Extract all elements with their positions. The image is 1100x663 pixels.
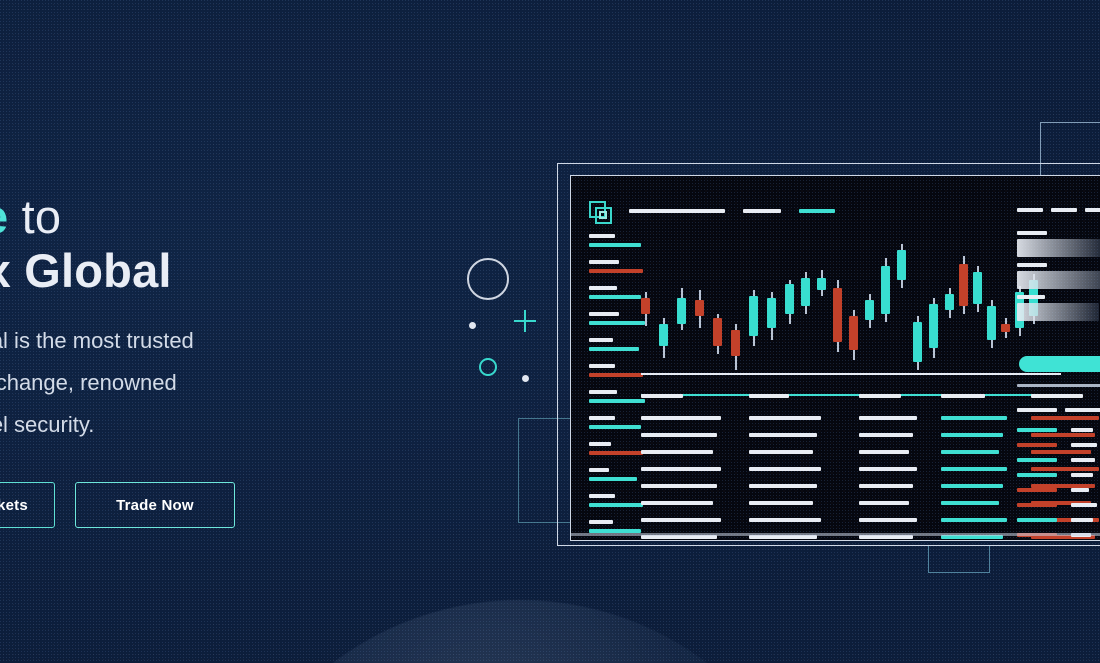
right-panel-cta-button[interactable] [1019, 356, 1100, 372]
right-panel-field-0[interactable] [1017, 239, 1100, 257]
right-panel-list-label-0 [1071, 428, 1093, 432]
hero-stage: Trade to Forex Global Forex Global is th… [0, 0, 1100, 663]
headline-rest: to [8, 190, 61, 243]
sidebar-row-value-6[interactable] [589, 399, 645, 403]
sidebar-row-value-9[interactable] [589, 477, 637, 481]
right-panel-field-label-2 [1017, 295, 1045, 299]
table-row [941, 467, 1007, 471]
right-panel-list-label-4 [1071, 488, 1089, 492]
right-panel-separator [1017, 384, 1100, 387]
table-row [749, 467, 821, 471]
table-row [749, 484, 817, 488]
nav-placeholder-0[interactable] [629, 209, 725, 213]
sidebar-row-value-4[interactable] [589, 347, 639, 351]
sidebar-row-value-0[interactable] [589, 243, 641, 247]
candlestick [817, 231, 826, 376]
right-panel-field-1[interactable] [1017, 271, 1100, 289]
candle-body [929, 304, 938, 348]
table-row [749, 433, 817, 437]
candle-body [801, 278, 810, 306]
right-panel-list-value-1 [1017, 443, 1057, 447]
sidebar-row-label-5 [589, 364, 615, 368]
candlestick [959, 231, 968, 376]
table-row [641, 501, 713, 505]
table-row [859, 433, 913, 437]
trade-now-button[interactable]: Trade Now [75, 482, 235, 528]
sidebar-row-value-8[interactable] [589, 451, 643, 455]
hero-body-text: Forex Global is the most trusted currenc… [0, 320, 442, 446]
right-panel-list-value-2 [1017, 458, 1057, 462]
sidebar-row-value-3[interactable] [589, 321, 645, 325]
candlestick [767, 231, 776, 376]
candle-body [865, 300, 874, 320]
table-row [749, 501, 813, 505]
candlestick [641, 231, 650, 376]
hero-body-line-3: for next-level security. [0, 412, 94, 437]
horizontal-scrollbar[interactable] [571, 533, 1100, 536]
candle-body [767, 298, 776, 328]
nav-placeholder-1[interactable] [743, 209, 781, 213]
right-panel-list-header-0 [1017, 408, 1057, 412]
right-panel-field-2[interactable] [1017, 303, 1099, 321]
candle-body [833, 288, 842, 342]
right-panel-field-label-0 [1017, 231, 1047, 235]
table-row [749, 450, 813, 454]
candlestick [677, 231, 686, 376]
candlestick [801, 231, 810, 376]
table-column-header-2 [859, 394, 901, 398]
table-row [859, 467, 917, 471]
candlestick [865, 231, 874, 376]
candlestick [695, 231, 704, 376]
hero-body-line-1: Forex Global is the most trusted [0, 328, 194, 353]
sidebar-row-label-1 [589, 260, 619, 264]
sidebar-row-label-3 [589, 312, 619, 316]
sidebar-row-label-7 [589, 416, 615, 420]
decor-circle-small-icon [479, 358, 497, 376]
decor-dot-icon [469, 322, 476, 329]
candle-body [659, 324, 668, 346]
candlestick-chart [641, 231, 996, 376]
hero-body-line-2: currency exchange, renowned [0, 370, 177, 395]
right-panel-tab-0[interactable] [1017, 208, 1043, 212]
right-panel-list-value-5 [1017, 503, 1057, 507]
sidebar-row-label-10 [589, 494, 615, 498]
dashboard-logo-icon [589, 201, 615, 227]
table-row [641, 518, 721, 522]
candlestick [881, 231, 890, 376]
right-panel-list-label-5 [1071, 503, 1097, 507]
nav-placeholder-2[interactable] [799, 209, 835, 213]
candle-body [913, 322, 922, 362]
candlestick [929, 231, 938, 376]
dashboard-right-panel[interactable] [1009, 176, 1100, 540]
decor-plus-icon [514, 310, 536, 332]
candlestick [973, 231, 982, 376]
table-column-header-1 [749, 394, 789, 398]
right-panel-list-label-1 [1071, 443, 1097, 447]
table-row [859, 450, 909, 454]
sidebar-row-label-2 [589, 286, 617, 290]
candle-body [945, 294, 954, 310]
sidebar-row-label-0 [589, 234, 615, 238]
candle-body [987, 306, 996, 340]
candle-body [677, 298, 686, 324]
candlestick [785, 231, 794, 376]
right-panel-field-label-1 [1017, 263, 1047, 267]
table-row [641, 416, 721, 420]
candle-body [641, 298, 650, 314]
right-panel-list-header-1 [1065, 408, 1100, 412]
candle-body [817, 278, 826, 290]
candlestick [749, 231, 758, 376]
sidebar-row-label-9 [589, 468, 609, 472]
table-row [641, 484, 717, 488]
sidebar-row-value-5[interactable] [589, 373, 643, 377]
candle-body [881, 266, 890, 314]
sidebar-row-value-7[interactable] [589, 425, 641, 429]
candle-body [713, 318, 722, 346]
table-column-header-0 [641, 394, 683, 398]
decor-dot-icon [522, 375, 529, 382]
candlestick [659, 231, 668, 376]
candlestick [731, 231, 740, 376]
sidebar-row-label-11 [589, 520, 613, 524]
candle-body [959, 264, 968, 306]
candlestick [849, 231, 858, 376]
sidebar-row-label-8 [589, 442, 611, 446]
table-row [859, 484, 913, 488]
table-row [641, 467, 721, 471]
table-row [749, 416, 821, 420]
candle-body [731, 330, 740, 356]
right-panel-list-value-4 [1017, 488, 1057, 492]
table-row [641, 433, 717, 437]
divider-0 [641, 373, 1061, 375]
candlestick [913, 231, 922, 376]
headline-line-2: Forex Global [0, 244, 442, 298]
table-row [859, 501, 909, 505]
right-panel-list-label-3 [1071, 473, 1093, 477]
right-panel-list-value-6 [1017, 518, 1057, 522]
table-row [941, 501, 999, 505]
table-row [941, 484, 1003, 488]
candle-body [973, 272, 982, 304]
candle-body [695, 300, 704, 316]
table-row [941, 433, 1003, 437]
table-row [941, 450, 999, 454]
table-row [941, 518, 1007, 522]
candle-body [849, 316, 858, 350]
table-row [859, 518, 917, 522]
candle-body [897, 250, 906, 280]
sidebar-row-value-10[interactable] [589, 503, 643, 507]
table-column-header-3 [941, 394, 985, 398]
right-panel-tab-2[interactable] [1085, 208, 1100, 212]
table-row [749, 518, 821, 522]
explore-markets-button[interactable]: Explore Markets [0, 482, 55, 528]
sidebar-row-value-2[interactable] [589, 295, 641, 299]
right-panel-list-label-2 [1071, 458, 1095, 462]
sidebar-row-label-6 [589, 390, 617, 394]
page-title: Trade to Forex Global [0, 190, 442, 298]
table-row [641, 450, 713, 454]
candlestick [945, 231, 954, 376]
candlestick [833, 231, 842, 376]
decor-circle-large-icon [467, 258, 509, 300]
hero-button-row: Explore Markets Trade Now [0, 482, 442, 528]
candlestick [987, 231, 996, 376]
decor-frame-bottom-u [928, 545, 990, 573]
right-panel-list-label-6 [1071, 518, 1093, 522]
trading-dashboard-screen [570, 175, 1100, 541]
sidebar-row-value-1[interactable] [589, 269, 643, 273]
candlestick [713, 231, 722, 376]
right-panel-tab-1[interactable] [1051, 208, 1077, 212]
right-panel-list-value-0 [1017, 428, 1057, 432]
candlestick [897, 231, 906, 376]
table-row [941, 416, 1007, 420]
table-row [859, 416, 917, 420]
candle-body [749, 296, 758, 336]
right-panel-list-value-3 [1017, 473, 1057, 477]
candle-body [785, 284, 794, 314]
screen-surface [571, 176, 1100, 540]
sidebar-row-label-4 [589, 338, 613, 342]
divider-1 [641, 394, 1061, 396]
hero-copy: Trade to Forex Global Forex Global is th… [0, 190, 442, 528]
